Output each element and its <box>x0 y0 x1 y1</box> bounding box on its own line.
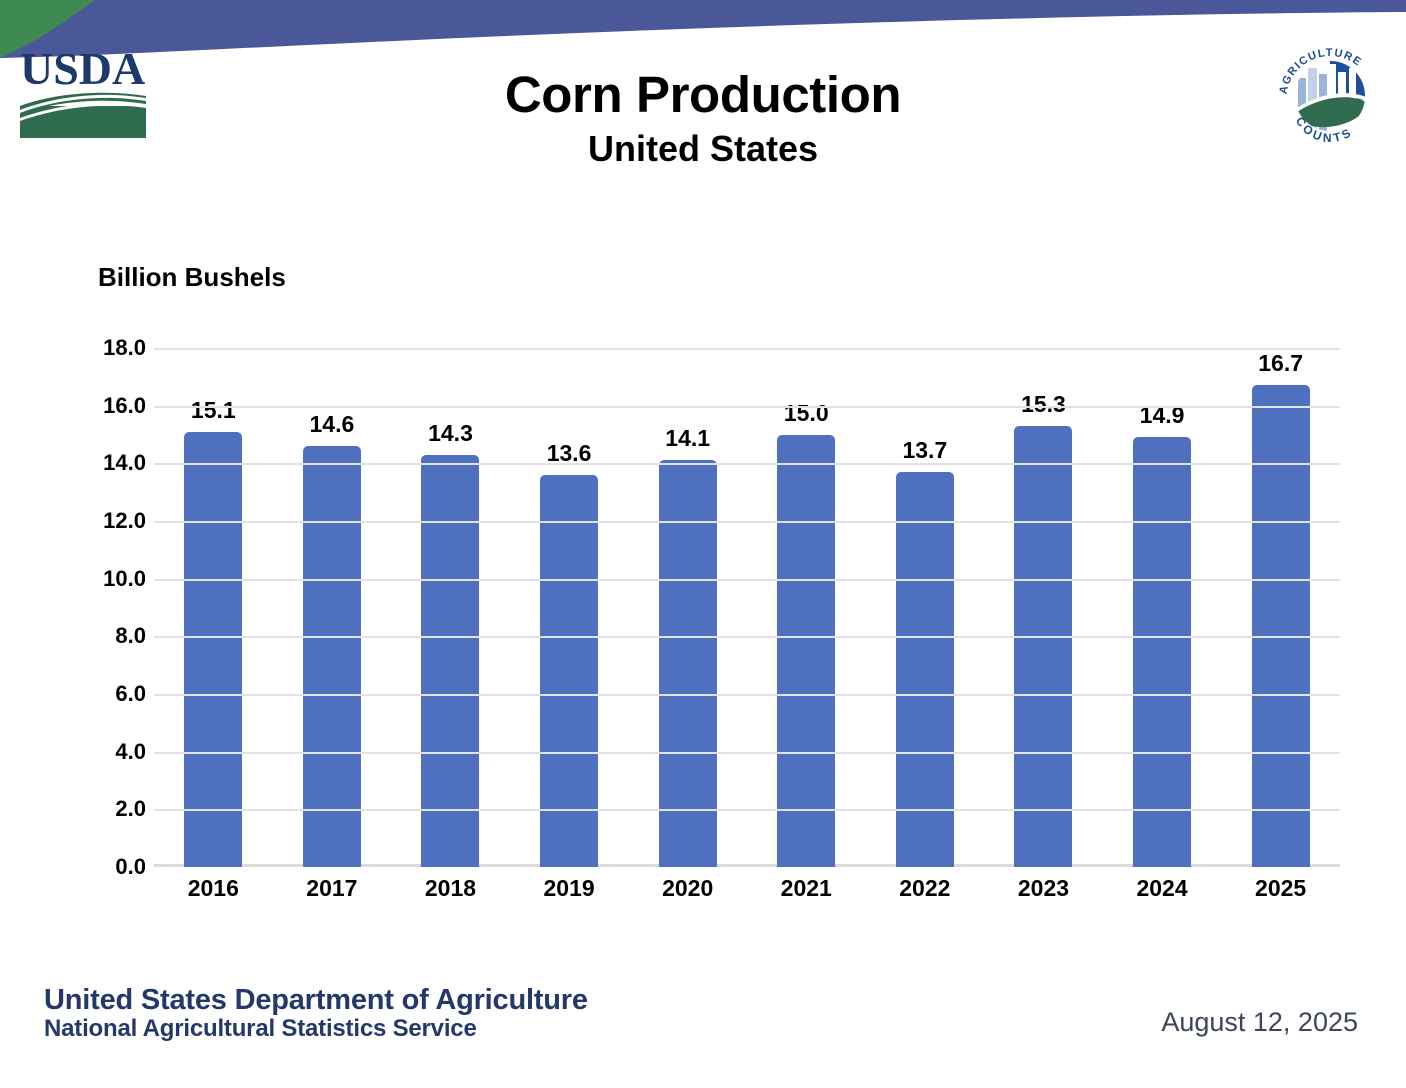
bar-group: 14.1 <box>628 348 747 867</box>
bar-chart: 18.016.014.012.010.08.06.04.02.00.0 15.1… <box>78 348 1340 873</box>
bar[interactable] <box>540 475 598 867</box>
gridline <box>154 752 1340 754</box>
footer-service: National Agricultural Statistics Service <box>44 1016 588 1043</box>
title-block: Corn Production United States <box>0 68 1406 171</box>
bar-value-label: 13.7 <box>866 437 985 464</box>
y-tick-label: 14.0 <box>78 450 146 476</box>
bar[interactable] <box>1014 426 1072 867</box>
y-axis-units-label: Billion Bushels <box>98 262 286 293</box>
gridline <box>154 406 1340 408</box>
bar[interactable] <box>184 432 242 867</box>
bar[interactable] <box>1133 437 1191 867</box>
gridline <box>154 809 1340 811</box>
bar[interactable] <box>777 435 835 868</box>
y-tick-label: 2.0 <box>78 796 146 822</box>
page-subtitle: United States <box>0 126 1406 171</box>
x-tick-label: 2018 <box>391 875 510 902</box>
gridline <box>154 521 1340 523</box>
gridline <box>154 636 1340 638</box>
y-tick-label: 0.0 <box>78 854 146 880</box>
y-tick-label: 12.0 <box>78 508 146 534</box>
y-tick-label: 6.0 <box>78 681 146 707</box>
plot-area: 15.114.614.313.614.115.013.715.314.916.7 <box>154 348 1340 867</box>
bar-group: 16.7 <box>1221 348 1340 867</box>
y-tick-label: 18.0 <box>78 335 146 361</box>
x-tick-label: 2021 <box>747 875 866 902</box>
x-tick-label: 2016 <box>154 875 273 902</box>
footer-department: United States Department of Agriculture <box>44 984 588 1016</box>
bar-value-label: 16.7 <box>1221 350 1340 377</box>
bar-value-label: 14.1 <box>628 425 747 452</box>
x-tick-label: 2023 <box>984 875 1103 902</box>
x-tick-label: 2017 <box>273 875 392 902</box>
bar-group: 15.1 <box>154 348 273 867</box>
bar-group: 15.3 <box>984 348 1103 867</box>
bar-value-label: 14.3 <box>391 420 510 447</box>
gridline <box>154 579 1340 581</box>
gridline <box>154 694 1340 696</box>
y-tick-label: 10.0 <box>78 566 146 592</box>
page-title: Corn Production <box>0 68 1406 122</box>
bar-value-label: 14.6 <box>273 411 392 438</box>
bar-group: 13.7 <box>866 348 985 867</box>
bar-value-label: 15.0 <box>747 400 866 427</box>
slide: USDA AGRICULTURE <box>0 0 1406 1088</box>
bar[interactable] <box>1252 385 1310 867</box>
y-tick-label: 8.0 <box>78 623 146 649</box>
x-tick-label: 2019 <box>510 875 629 902</box>
x-tick-label: 2020 <box>628 875 747 902</box>
bar-value-label: 15.3 <box>984 391 1103 418</box>
release-date: August 12, 2025 <box>1161 1007 1358 1038</box>
gridline <box>154 348 1340 350</box>
y-tick-label: 4.0 <box>78 739 146 765</box>
bar-value-label: 15.1 <box>154 397 273 424</box>
x-tick-label: 2022 <box>866 875 985 902</box>
gridline <box>154 463 1340 465</box>
bar[interactable] <box>896 472 954 867</box>
bar[interactable] <box>421 455 479 867</box>
x-tick-label: 2025 <box>1221 875 1340 902</box>
x-axis: 2016201720182019202020212022202320242025 <box>154 875 1340 902</box>
bar-series: 15.114.614.313.614.115.013.715.314.916.7 <box>154 348 1340 867</box>
header-swoosh-svg <box>0 0 1406 60</box>
x-tick-label: 2024 <box>1103 875 1222 902</box>
bar-group: 13.6 <box>510 348 629 867</box>
header-decoration-band <box>0 0 1406 60</box>
bar-group: 14.3 <box>391 348 510 867</box>
bar-group: 14.9 <box>1103 348 1222 867</box>
y-axis: 18.016.014.012.010.08.06.04.02.00.0 <box>78 348 146 867</box>
bar[interactable] <box>303 446 361 867</box>
footer-agency: United States Department of Agriculture … <box>44 984 588 1043</box>
bar-group: 14.6 <box>273 348 392 867</box>
y-tick-label: 16.0 <box>78 393 146 419</box>
bar-group: 15.0 <box>747 348 866 867</box>
